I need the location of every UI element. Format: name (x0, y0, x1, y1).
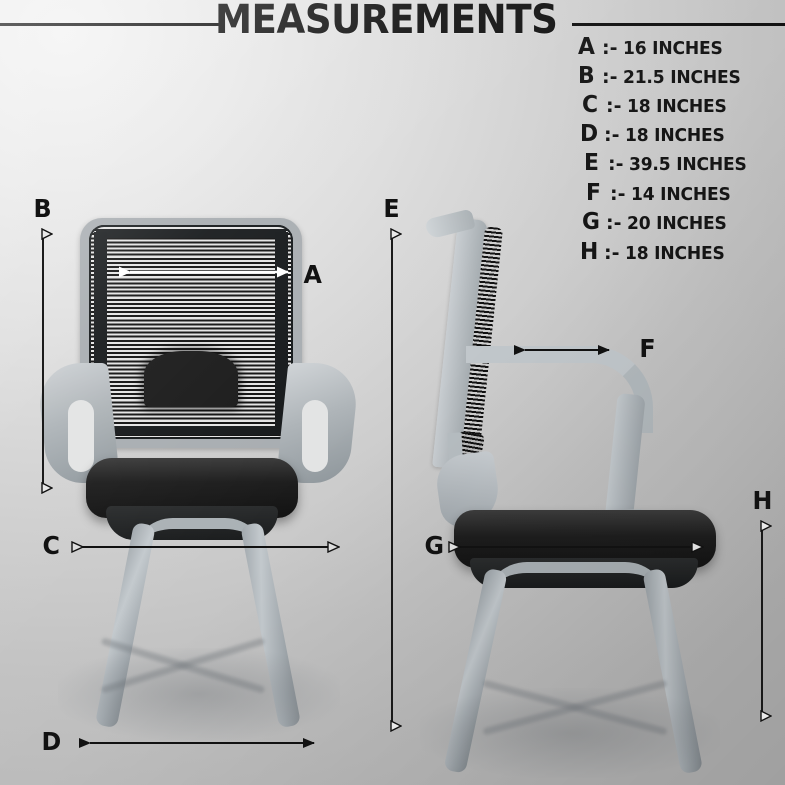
backrest-frame-front (80, 218, 302, 448)
legend-item-f: F :- 14 INCHES (586, 180, 736, 208)
dimension-label-g: G (425, 533, 445, 558)
armrest-cutout-left (68, 400, 94, 472)
armrest-cutout-right (302, 400, 328, 472)
mesh-backrest-front (89, 225, 293, 439)
legend-key-f: F (586, 180, 605, 206)
legend-key-a: A (578, 34, 597, 60)
measurements-infographic: MEASUREMENTS A :- 16 INCHES B :- 21.5 IN… (0, 0, 785, 785)
floor-shadow-side (420, 688, 720, 778)
dimension-label-d: D (42, 729, 62, 754)
legend-item-e: E :- 39.5 INCHES (584, 150, 753, 178)
legend-separator-d: :- (600, 124, 625, 146)
legend-item-d: D :- 18 INCHES (580, 121, 730, 149)
legend-key-d: D (580, 121, 599, 147)
legend-value-e: 39.5 INCHES (629, 154, 747, 175)
legend-key-c: C (582, 92, 601, 118)
dimension-label-e: E (383, 196, 399, 221)
legend-value-f: 14 INCHES (631, 184, 731, 205)
dimension-label-h: H (753, 488, 773, 513)
dimension-label-b: B (33, 196, 51, 221)
page-title: MEASUREMENTS (215, 0, 557, 43)
legend-key-e: E (584, 150, 603, 176)
legend-item-a: A :- 16 INCHES (578, 34, 728, 62)
legend-value-c: 18 INCHES (627, 96, 727, 117)
dimension-label-a: A (303, 262, 321, 287)
backrest-rail-top (96, 229, 286, 238)
legend-separator-e: :- (604, 153, 629, 175)
chair-front-view (28, 218, 368, 738)
legend-value-b: 21.5 INCHES (623, 67, 741, 88)
title-rule-left (0, 23, 220, 26)
dimension-label-f: F (639, 336, 655, 361)
title-rule-right (572, 23, 785, 26)
legend-separator-a: :- (598, 37, 623, 59)
legend-key-b: B (578, 63, 597, 89)
legend-item-c: C :- 18 INCHES (582, 92, 732, 120)
legend-item-b: B :- 21.5 INCHES (578, 63, 747, 91)
legend-value-d: 18 INCHES (625, 125, 725, 146)
legend-separator-f: :- (606, 183, 631, 205)
leg-brace-side (484, 562, 668, 605)
legend-separator-b: :- (598, 66, 623, 88)
dimension-label-c: C (42, 533, 59, 558)
chair-side-view (420, 218, 750, 738)
legend-separator-c: :- (602, 95, 627, 117)
backrest-rail-bottom (96, 426, 286, 435)
legend-value-a: 16 INCHES (623, 38, 723, 59)
